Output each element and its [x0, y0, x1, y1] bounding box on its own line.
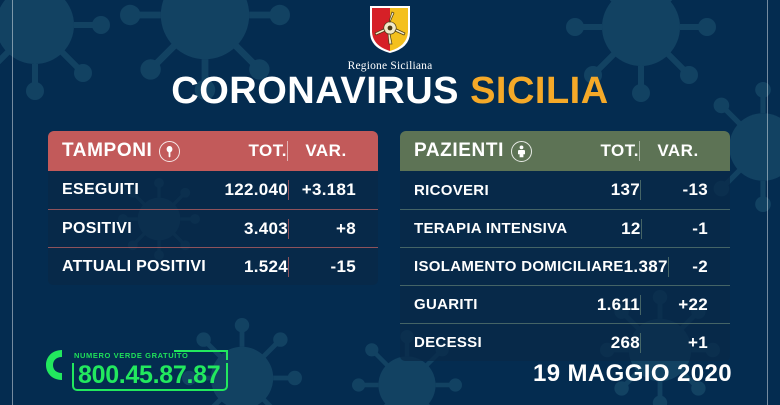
row-label: DECESSI	[414, 334, 566, 351]
regione-siciliana-crest: Regione Siciliana	[0, 4, 780, 72]
pazienti-category: PAZIENTI	[414, 140, 565, 162]
hotline-block: NUMERO VERDE GRATUITO 800.45.87.87	[44, 344, 228, 391]
pazienti-table-body: RICOVERI 137 -13 TERAPIA INTENSIVA 12 -1…	[400, 171, 730, 361]
row-label: TERAPIA INTENSIVA	[414, 220, 567, 237]
row-var: +22	[640, 295, 716, 315]
pazienti-table-header: PAZIENTI TOT. VAR.	[400, 131, 730, 171]
table-row: POSITIVI 3.403 +8	[48, 209, 378, 247]
tamponi-table-header: TAMPONI TOT. VAR.	[48, 131, 378, 171]
row-var: -1	[641, 219, 716, 239]
phone-icon	[44, 348, 66, 387]
table-row: DECESSI 268 +1	[400, 323, 730, 361]
table-row: ESEGUITI 122.040 +3.181	[48, 171, 378, 209]
tamponi-category: TAMPONI	[62, 140, 213, 162]
table-row: ISOLAMENTO DOMICILIARE 1.387 -2	[400, 247, 730, 285]
report-date: 19 MAGGIO 2020	[533, 360, 732, 388]
tamponi-col-var: VAR.	[287, 141, 364, 161]
row-var: +3.181	[288, 180, 364, 200]
hotline-text: NUMERO VERDE GRATUITO 800.45.87.87	[72, 344, 228, 391]
title-primary: CORONAVIRUS	[171, 70, 459, 112]
row-var: -2	[668, 257, 716, 277]
tamponi-category-label: TAMPONI	[62, 140, 152, 162]
row-label: ESEGUITI	[62, 181, 214, 199]
pazienti-col-var: VAR.	[639, 141, 716, 161]
row-label: RICOVERI	[414, 182, 566, 199]
row-var: -13	[640, 180, 716, 200]
row-var: -15	[288, 257, 364, 277]
row-var: +1	[640, 333, 716, 353]
sicily-trinacria-coat-of-arms-icon	[368, 4, 412, 59]
hotline-rule	[174, 350, 228, 352]
hotline-number[interactable]: 800.45.87.87	[72, 363, 228, 391]
row-total: 3.403	[214, 219, 288, 239]
pazienti-table: PAZIENTI TOT. VAR. RICOVERI 137 -13 TERA…	[400, 131, 730, 361]
pazienti-category-label: PAZIENTI	[414, 140, 504, 162]
title-accent: SICILIA	[470, 70, 609, 112]
tamponi-table-body: ESEGUITI 122.040 +3.181 POSITIVI 3.403 +…	[48, 171, 378, 285]
tamponi-col-total: TOT.	[213, 141, 287, 161]
statistics-tables: TAMPONI TOT. VAR. ESEGUITI 122.040 +3.18…	[0, 131, 780, 361]
row-total: 268	[566, 333, 640, 353]
table-row: TERAPIA INTENSIVA 12 -1	[400, 209, 730, 247]
row-total: 1.387	[624, 257, 668, 277]
person-icon	[511, 141, 532, 162]
row-label: POSITIVI	[62, 220, 214, 238]
row-label: ATTUALI POSITIVI	[62, 258, 214, 276]
row-total: 122.040	[214, 180, 288, 200]
table-row: ATTUALI POSITIVI 1.524 -15	[48, 247, 378, 285]
table-row: GUARITI 1.611 +22	[400, 285, 730, 323]
pazienti-col-total: TOT.	[565, 141, 639, 161]
row-total: 1.611	[566, 295, 640, 315]
row-label: GUARITI	[414, 296, 566, 313]
row-label: ISOLAMENTO DOMICILIARE	[414, 258, 624, 275]
swab-icon	[159, 141, 180, 162]
row-var: +8	[288, 219, 364, 239]
hotline-rule-vertical	[226, 350, 228, 360]
row-total: 12	[567, 219, 640, 239]
row-total: 1.524	[214, 257, 288, 277]
table-row: RICOVERI 137 -13	[400, 171, 730, 209]
infographic-canvas: Regione Siciliana CORONAVIRUS SICILIA TA…	[0, 0, 780, 405]
page-title: CORONAVIRUS SICILIA	[0, 72, 780, 110]
row-total: 137	[566, 180, 640, 200]
tamponi-table: TAMPONI TOT. VAR. ESEGUITI 122.040 +3.18…	[48, 131, 378, 361]
hotline-caption: NUMERO VERDE GRATUITO	[74, 351, 188, 360]
